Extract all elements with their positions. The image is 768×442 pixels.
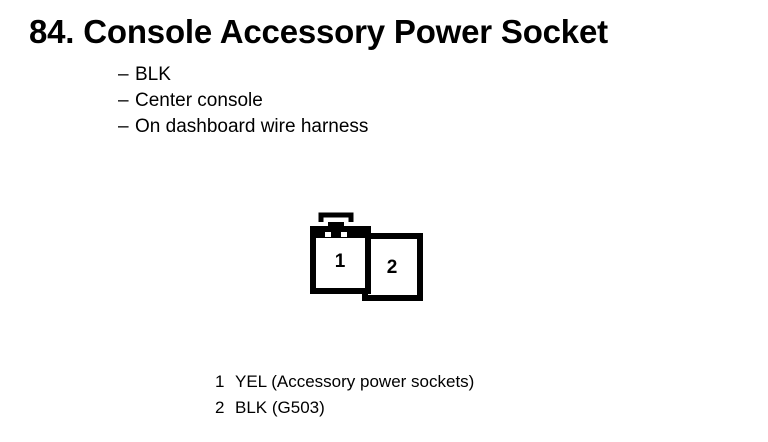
- page-title: 84. Console Accessory Power Socket: [29, 12, 608, 52]
- diagram-page: 84. Console Accessory Power Socket – BLK…: [0, 0, 768, 442]
- cavity-2-number: 2: [387, 257, 398, 278]
- terminal-legend: 1 YEL (Accessory power sockets) 2 BLK (G…: [215, 369, 474, 421]
- dash-icon: –: [118, 88, 135, 114]
- attribute-item-color: – BLK: [118, 62, 638, 88]
- legend-description: YEL (Accessory power sockets): [235, 369, 474, 395]
- attribute-item-location: – Center console: [118, 88, 638, 114]
- legend-cavity-number: 1: [215, 369, 235, 395]
- attribute-list: – BLK – Center console – On dashboard wi…: [118, 62, 638, 140]
- legend-row: 1 YEL (Accessory power sockets): [215, 369, 474, 395]
- attribute-label: BLK: [135, 62, 171, 88]
- legend-cavity-number: 2: [215, 395, 235, 421]
- connector-svg: 1 2: [295, 205, 435, 310]
- attribute-label: Center console: [135, 88, 263, 114]
- latch-shoulder-icon: [316, 232, 365, 238]
- attribute-item-harness: – On dashboard wire harness: [118, 114, 638, 140]
- connector-diagram: 1 2: [295, 205, 435, 310]
- dash-icon: –: [118, 62, 135, 88]
- attribute-label: On dashboard wire harness: [135, 114, 368, 140]
- latch-tab-icon: [321, 215, 351, 222]
- dash-icon: –: [118, 114, 135, 140]
- legend-description: BLK (G503): [235, 395, 325, 421]
- cavity-1-number: 1: [335, 251, 346, 272]
- legend-row: 2 BLK (G503): [215, 395, 474, 421]
